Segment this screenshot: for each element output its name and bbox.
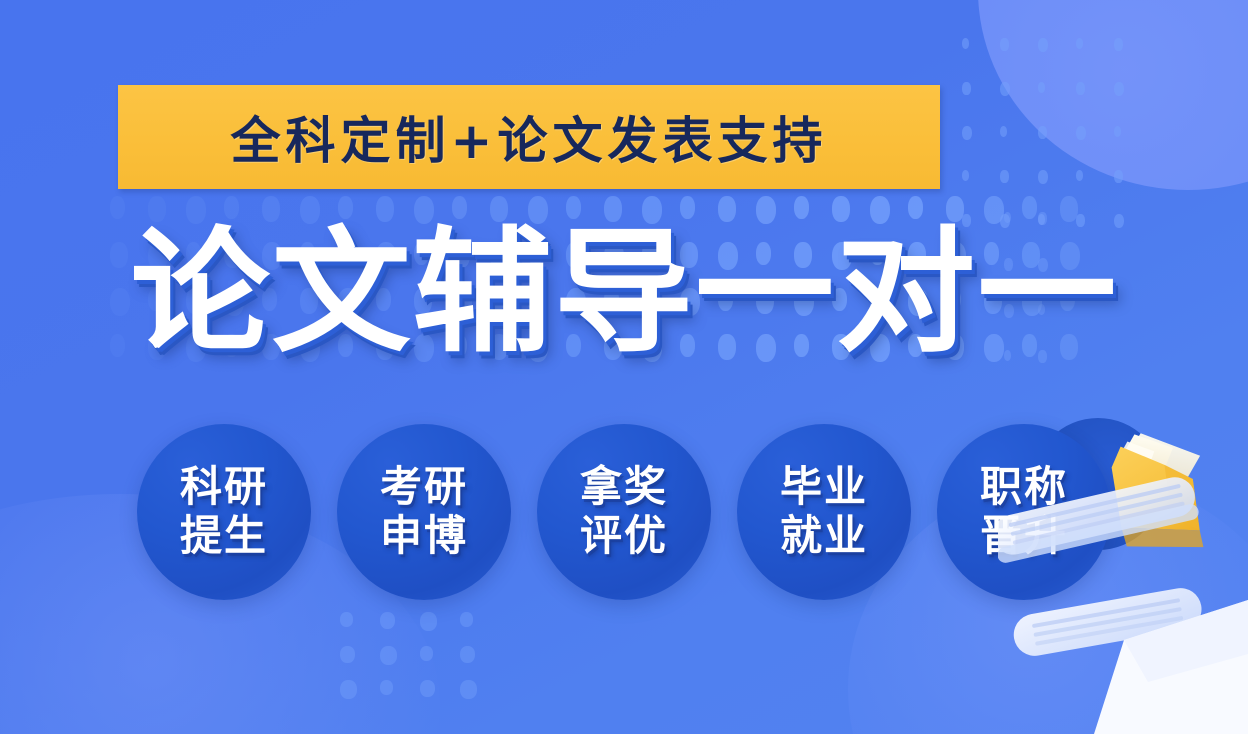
badge-item-0[interactable]: 科研 提生 — [137, 424, 311, 600]
decorative-dot — [380, 612, 395, 629]
decorative-dot — [1000, 38, 1009, 51]
badge-item-4[interactable]: 职称 晋升 — [937, 424, 1111, 600]
badge-item-3[interactable]: 毕业 就业 — [737, 424, 911, 600]
badge-row: 科研 提生 考研 申博 拿奖 评优 毕业 就业 职称 晋升 — [0, 424, 1248, 600]
decorative-dot — [1076, 170, 1083, 181]
decorative-dot — [1000, 82, 1010, 96]
decorative-dot — [1076, 82, 1085, 95]
badge-line-bottom: 申博 — [380, 512, 468, 561]
decorative-dot — [1114, 38, 1123, 51]
decorative-dot — [1000, 170, 1009, 183]
decorative-dot — [1038, 82, 1045, 93]
decorative-dot — [1038, 126, 1047, 139]
badge-line-bottom: 评优 — [580, 512, 668, 561]
decorative-dot — [962, 82, 971, 95]
decorative-dot — [380, 680, 393, 695]
decorative-dot — [1076, 38, 1083, 49]
badge-line-bottom: 提生 — [180, 512, 268, 561]
decorative-dot — [420, 612, 437, 631]
decorative-dot — [340, 680, 357, 699]
decorative-dot — [962, 170, 969, 181]
decorative-dot — [340, 646, 355, 663]
badge-item-2[interactable]: 拿奖 评优 — [537, 424, 711, 600]
decorative-dot — [1038, 170, 1048, 184]
page-title: 论文辅导一对一 — [0, 224, 1248, 362]
decorative-dot — [1114, 126, 1121, 137]
headline-text: 论文辅导一对一 — [130, 224, 1118, 362]
decorative-dot — [1076, 126, 1086, 140]
open-page-icon — [1094, 600, 1248, 734]
decorative-dot — [962, 38, 969, 49]
decorative-dot — [1000, 126, 1007, 137]
decorative-dot — [420, 680, 435, 697]
decorative-dot — [1114, 82, 1124, 96]
decorative-dot — [460, 612, 473, 627]
decorative-dot — [380, 646, 397, 665]
decorative-dot — [460, 680, 477, 699]
badge-line-top: 毕业 — [780, 463, 868, 512]
badge-line-top: 拿奖 — [580, 463, 668, 512]
badge-line-top: 考研 — [380, 463, 468, 512]
poster-canvas: 全科定制+论文发表支持 论文辅导一对一 科研 提生 考研 申博 拿奖 评优 毕业… — [0, 0, 1248, 734]
promo-ribbon: 全科定制+论文发表支持 — [118, 85, 940, 189]
badge-line-bottom: 就业 — [780, 512, 868, 561]
decorative-dot — [420, 646, 433, 661]
decorative-dot — [110, 196, 125, 219]
decorative-dot — [1038, 38, 1048, 52]
badge-line-bottom: 晋升 — [980, 512, 1068, 561]
badge-line-top: 科研 — [180, 463, 268, 512]
badge-item-1[interactable]: 考研 申博 — [337, 424, 511, 600]
decorative-dot — [962, 126, 972, 140]
decorative-dot — [340, 612, 353, 627]
decorative-dot — [460, 646, 475, 663]
badge-line-top: 职称 — [980, 463, 1068, 512]
top-right-glow-circle — [978, 0, 1248, 190]
decorative-dot — [1114, 170, 1123, 183]
promo-ribbon-text: 全科定制+论文发表支持 — [231, 101, 828, 173]
